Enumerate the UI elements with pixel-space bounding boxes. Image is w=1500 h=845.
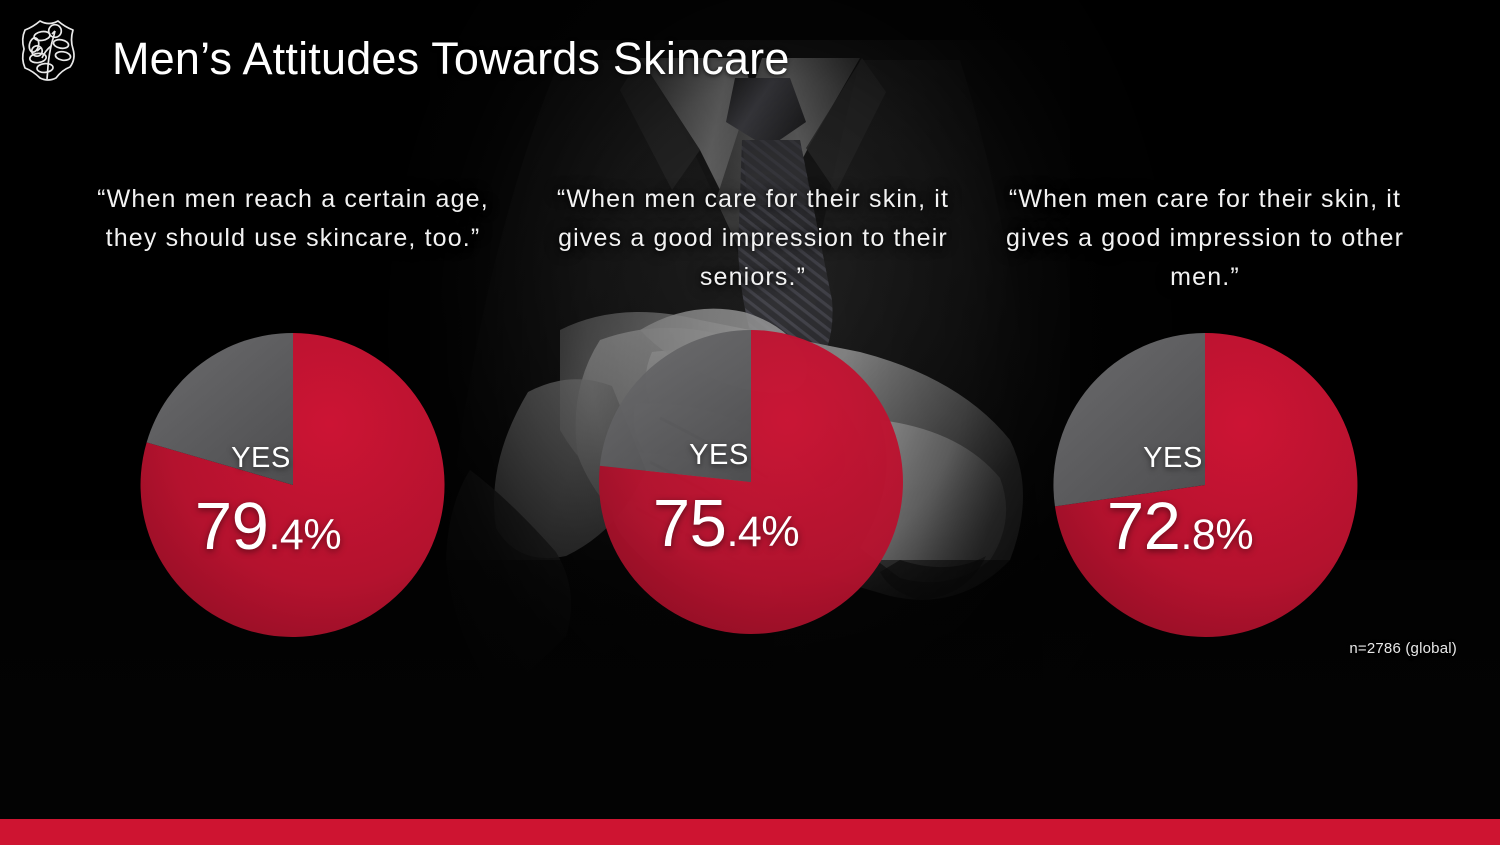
stat-column-3: “When men care for their skin, it gives …	[1000, 180, 1410, 297]
quote-text-1: “When men reach a certain age, they shou…	[95, 180, 491, 258]
pie-chart-2: YES 75.4%	[596, 327, 906, 637]
organic-cell-plant-logo-icon	[18, 18, 80, 84]
slide-header: Men’s Attitudes Towards Skincare	[0, 0, 1500, 112]
presentation-slide: Men’s Attitudes Towards Skincare “When m…	[0, 0, 1500, 845]
stat-column-2: “When men care for their skin, it gives …	[535, 180, 971, 297]
quote-text-3: “When men care for their skin, it gives …	[1000, 180, 1410, 297]
page-title: Men’s Attitudes Towards Skincare	[112, 30, 790, 88]
bottom-accent-bar	[0, 819, 1500, 845]
pie-chart-3: YES 72.8%	[1050, 330, 1360, 640]
stat-column-1: “When men reach a certain age, they shou…	[95, 180, 491, 258]
pie-chart-1: YES 79.4%	[138, 330, 448, 640]
sample-size-footnote: n=2786 (global)	[1349, 640, 1457, 657]
quote-text-2: “When men care for their skin, it gives …	[535, 180, 971, 297]
